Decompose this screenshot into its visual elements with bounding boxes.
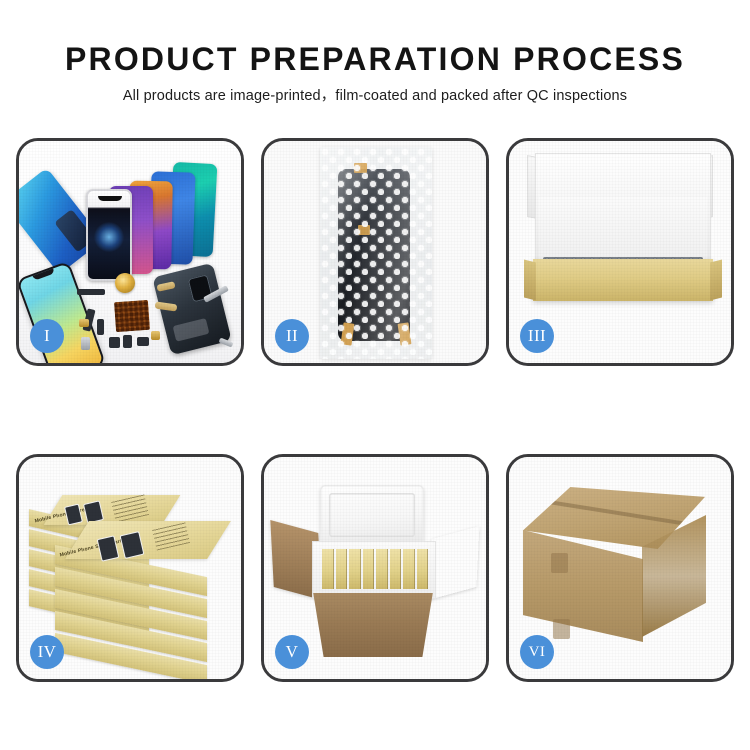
yellow-boxes-inside bbox=[322, 549, 428, 589]
step-badge-1: I bbox=[30, 319, 64, 353]
logic-board bbox=[114, 300, 150, 332]
bubble-wrap-bag bbox=[320, 147, 432, 359]
wireless-charging-coil bbox=[115, 273, 135, 293]
page-subtitle: All products are image-printed，film-coat… bbox=[0, 87, 750, 105]
process-step-panel-6[interactable]: VI bbox=[506, 454, 734, 682]
process-step-panel-2[interactable]: II bbox=[261, 138, 489, 366]
step-badge-5: V bbox=[275, 635, 309, 669]
process-step-panel-1[interactable]: I bbox=[16, 138, 244, 366]
header: PRODUCT PREPARATION PROCESS All products… bbox=[0, 40, 750, 105]
phone-black-front bbox=[86, 189, 132, 281]
process-step-grid: I II bbox=[16, 138, 734, 682]
page-title: PRODUCT PREPARATION PROCESS bbox=[0, 40, 750, 78]
foam-lid bbox=[320, 485, 424, 547]
product-preparation-infographic: PRODUCT PREPARATION PROCESS All products… bbox=[0, 0, 750, 750]
process-step-panel-5[interactable]: V bbox=[261, 454, 489, 682]
step-badge-6: VI bbox=[520, 635, 554, 669]
tape-tab-upper bbox=[551, 553, 568, 573]
step-badge-4: IV bbox=[30, 635, 64, 669]
tape-tab-lower bbox=[553, 619, 570, 639]
process-step-panel-4[interactable]: Mobile Phone Spare Parts Mobile Phone Sp… bbox=[16, 454, 244, 682]
step-badge-2: II bbox=[275, 319, 309, 353]
foam-liner bbox=[539, 197, 707, 263]
process-step-panel-3[interactable]: III bbox=[506, 138, 734, 366]
carton-body bbox=[308, 593, 438, 657]
step-badge-3: III bbox=[520, 319, 554, 353]
kraft-box-tray bbox=[533, 259, 713, 301]
